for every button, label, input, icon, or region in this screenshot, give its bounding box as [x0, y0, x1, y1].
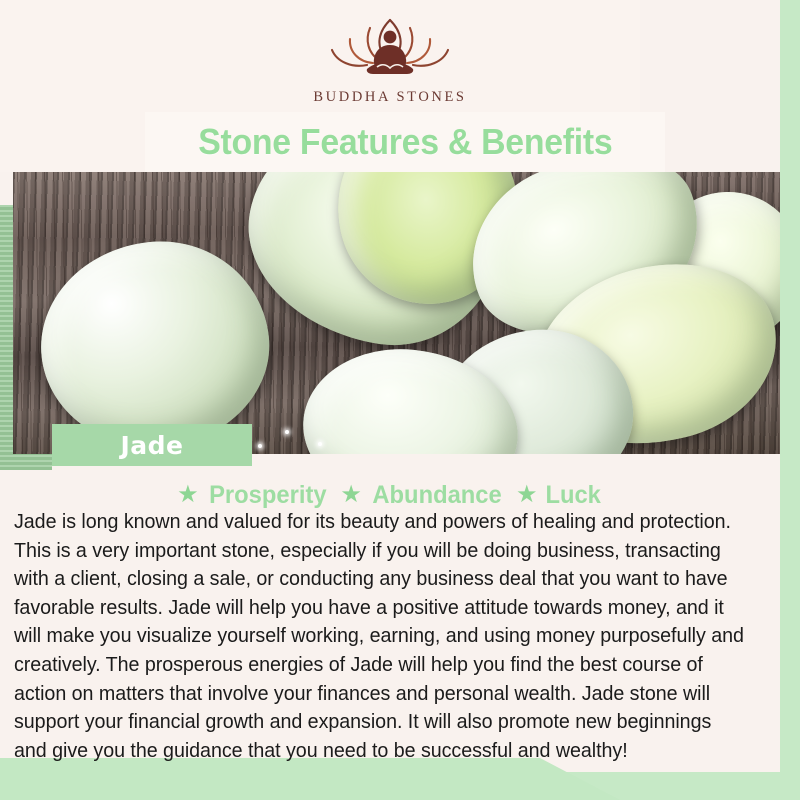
benefit-label: Abundance [372, 481, 501, 510]
benefit-label: Prosperity [209, 481, 326, 510]
stone-name-bar: Jade [52, 424, 252, 466]
stone-photo [13, 172, 780, 454]
lotus-meditation-icon [315, 12, 465, 84]
star-icon: ★ [177, 483, 199, 507]
logo: BUDDHA STONES [313, 12, 466, 106]
benefit-item: ★ Luck [516, 481, 603, 510]
sparkle-highlight [258, 444, 262, 448]
star-icon: ★ [516, 483, 538, 507]
stone-description: Jade is long known and valued for its be… [14, 508, 747, 765]
title-banner: Stone Features & Benefits [145, 112, 665, 172]
benefit-label: Luck [546, 481, 601, 510]
benefit-item: ★ Prosperity [177, 481, 329, 510]
infographic-card: BUDDHA STONES Stone Features & Benefits … [0, 0, 800, 800]
star-icon: ★ [340, 483, 362, 507]
benefits-row: ★ Prosperity ★ Abundance ★ Luck [0, 478, 780, 512]
sparkle-highlight [285, 430, 289, 434]
brand-header: BUDDHA STONES [0, 0, 780, 118]
page-title: Stone Features & Benefits [198, 121, 612, 163]
benefit-item: ★ Abundance [340, 481, 505, 510]
right-frame-edge [780, 0, 800, 800]
stone-name: Jade [120, 431, 183, 460]
brand-name: BUDDHA STONES [313, 89, 466, 106]
sparkle-highlight [318, 442, 322, 446]
